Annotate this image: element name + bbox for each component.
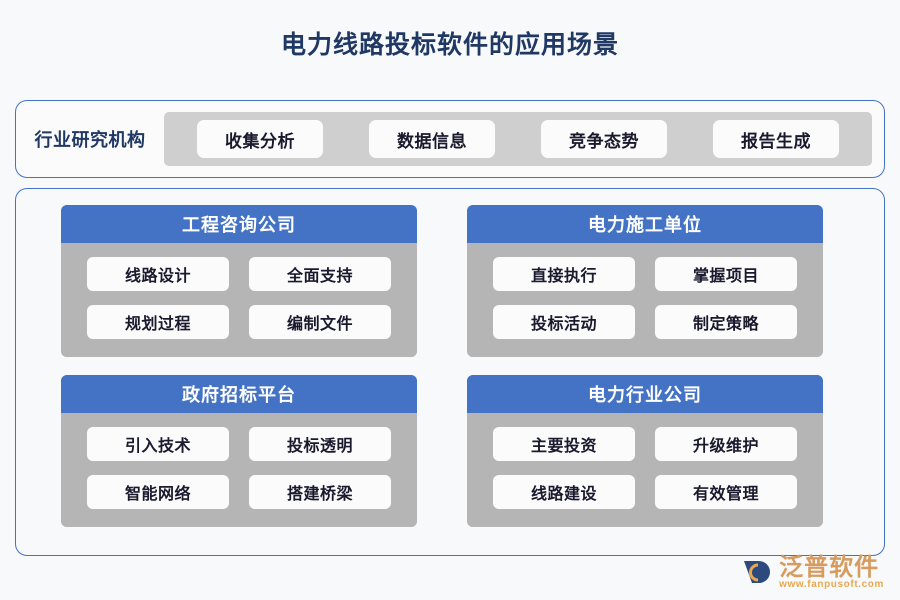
industry-research-label: 行业研究机构 [16, 126, 164, 152]
card-power-industry-company: 电力行业公司 主要投资 升级维护 线路建设 有效管理 [467, 375, 823, 527]
card-title: 政府招标平台 [61, 375, 417, 413]
card-pill-transparent-bidding[interactable]: 投标透明 [249, 427, 391, 461]
card-pill-line-construction[interactable]: 线路建设 [493, 475, 635, 509]
brand-swoosh-icon [741, 553, 775, 592]
card-title: 电力施工单位 [467, 205, 823, 243]
industry-research-track: 收集分析 数据信息 竞争态势 报告生成 [164, 112, 872, 166]
card-pill-build-bridge[interactable]: 搭建桥梁 [249, 475, 391, 509]
card-pill-formulate-strategy[interactable]: 制定策略 [655, 305, 797, 339]
card-pill-intelligent-network[interactable]: 智能网络 [87, 475, 229, 509]
industry-research-band: 行业研究机构 收集分析 数据信息 竞争态势 报告生成 [15, 100, 885, 178]
card-title: 工程咨询公司 [61, 205, 417, 243]
brand-logo: 泛普软件 www.fanpusoft.com [741, 553, 884, 592]
card-title: 电力行业公司 [467, 375, 823, 413]
scenario-panel: 泛普软件 FANPU SOFTWARE 工程咨询公司 线路设计 全面支持 规划过… [15, 188, 885, 556]
card-pill-document-preparation[interactable]: 编制文件 [249, 305, 391, 339]
card-pill-full-support[interactable]: 全面支持 [249, 257, 391, 291]
card-pill-upgrade-maintenance[interactable]: 升级维护 [655, 427, 797, 461]
card-government-bidding-platform: 政府招标平台 引入技术 投标透明 智能网络 搭建桥梁 [61, 375, 417, 527]
brand-url: www.fanpusoft.com [779, 580, 884, 591]
card-power-construction-unit: 电力施工单位 直接执行 掌握项目 投标活动 制定策略 [467, 205, 823, 357]
card-pill-direct-execution[interactable]: 直接执行 [493, 257, 635, 291]
card-pill-grasp-project[interactable]: 掌握项目 [655, 257, 797, 291]
brand-name-cn: 泛普软件 [779, 555, 884, 580]
page-title: 电力线路投标软件的应用场景 [0, 0, 900, 60]
brand-text: 泛普软件 www.fanpusoft.com [779, 555, 884, 591]
card-body: 主要投资 升级维护 线路建设 有效管理 [467, 413, 823, 527]
band-pill-competitive-situation[interactable]: 竞争态势 [541, 120, 667, 158]
card-pill-planning-process[interactable]: 规划过程 [87, 305, 229, 339]
card-pill-bidding-activity[interactable]: 投标活动 [493, 305, 635, 339]
card-engineering-consulting: 工程咨询公司 线路设计 全面支持 规划过程 编制文件 [61, 205, 417, 357]
card-pill-introduce-technology[interactable]: 引入技术 [87, 427, 229, 461]
card-body: 引入技术 投标透明 智能网络 搭建桥梁 [61, 413, 417, 527]
card-pill-effective-management[interactable]: 有效管理 [655, 475, 797, 509]
card-pill-main-investment[interactable]: 主要投资 [493, 427, 635, 461]
band-pill-report-generation[interactable]: 报告生成 [713, 120, 839, 158]
scenario-card-grid: 工程咨询公司 线路设计 全面支持 规划过程 编制文件 电力施工单位 直接执行 掌… [61, 205, 843, 527]
card-body: 直接执行 掌握项目 投标活动 制定策略 [467, 243, 823, 357]
band-pill-collect-analysis[interactable]: 收集分析 [197, 120, 323, 158]
card-body: 线路设计 全面支持 规划过程 编制文件 [61, 243, 417, 357]
card-pill-line-design[interactable]: 线路设计 [87, 257, 229, 291]
band-pill-data-information[interactable]: 数据信息 [369, 120, 495, 158]
